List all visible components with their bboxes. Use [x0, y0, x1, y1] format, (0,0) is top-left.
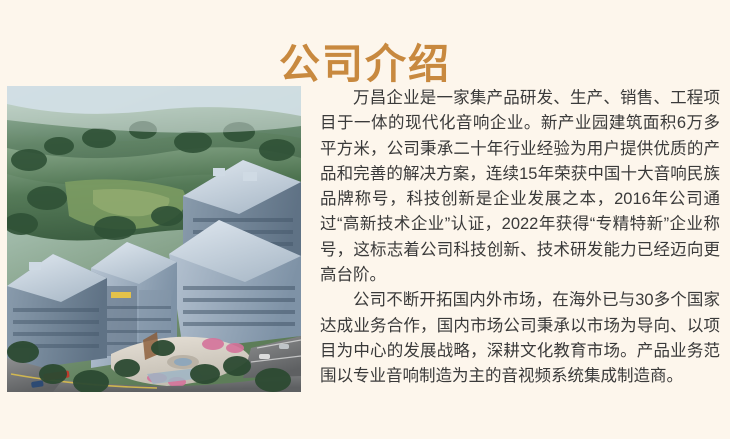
company-campus-aerial-photo [7, 86, 301, 392]
company-intro-text: 万昌企业是一家集产品研发、生产、销售、工程项目于一体的现代化音响企业。新产业园建… [320, 86, 720, 390]
page-title: 公司介绍 [0, 40, 730, 88]
intro-paragraph-1: 万昌企业是一家集产品研发、生产、销售、工程项目于一体的现代化音响企业。新产业园建… [320, 86, 720, 288]
company-intro-page: 公司介绍 [0, 0, 730, 439]
intro-paragraph-2: 公司不断开拓国内外市场，在海外已与30多个国家达成业务合作，国内市场公司秉承以市… [320, 288, 720, 389]
